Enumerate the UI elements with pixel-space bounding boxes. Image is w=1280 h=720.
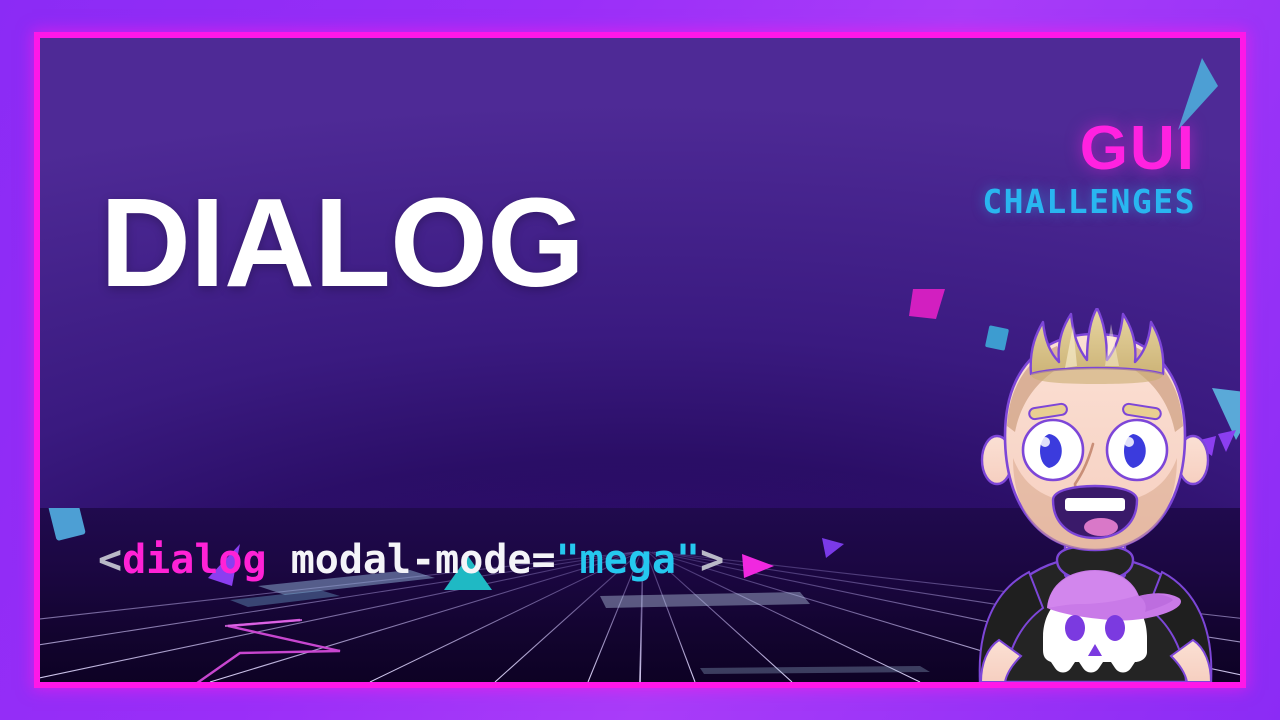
code-bracket-open: < bbox=[98, 537, 122, 583]
code-attr-name: modal-mode= bbox=[291, 537, 556, 583]
avatar bbox=[925, 308, 1240, 682]
logo-gui-text: GUI bbox=[982, 120, 1196, 179]
code-tag-name: dialog bbox=[122, 537, 267, 583]
code-bracket-close: > bbox=[700, 537, 724, 583]
brand-logo: GUI CHALLENGES bbox=[982, 120, 1196, 218]
code-snippet: <dialog modal-mode="mega"> <dialog modal… bbox=[98, 428, 724, 682]
code-line-mega: <dialog modal-mode="mega"> bbox=[98, 534, 724, 587]
logo-challenges-text: CHALLENGES bbox=[982, 185, 1196, 218]
poster-canvas: DIALOG <dialog modal-mode="mega"> <dialo… bbox=[0, 0, 1280, 720]
avatar-head bbox=[982, 308, 1208, 550]
avatar-mohawk-character-icon bbox=[925, 308, 1240, 682]
page-title: DIALOG bbox=[100, 180, 584, 306]
code-attr-value: "mega" bbox=[556, 537, 701, 583]
poster-stage: DIALOG <dialog modal-mode="mega"> <dialo… bbox=[40, 38, 1240, 682]
code-space bbox=[267, 537, 291, 583]
